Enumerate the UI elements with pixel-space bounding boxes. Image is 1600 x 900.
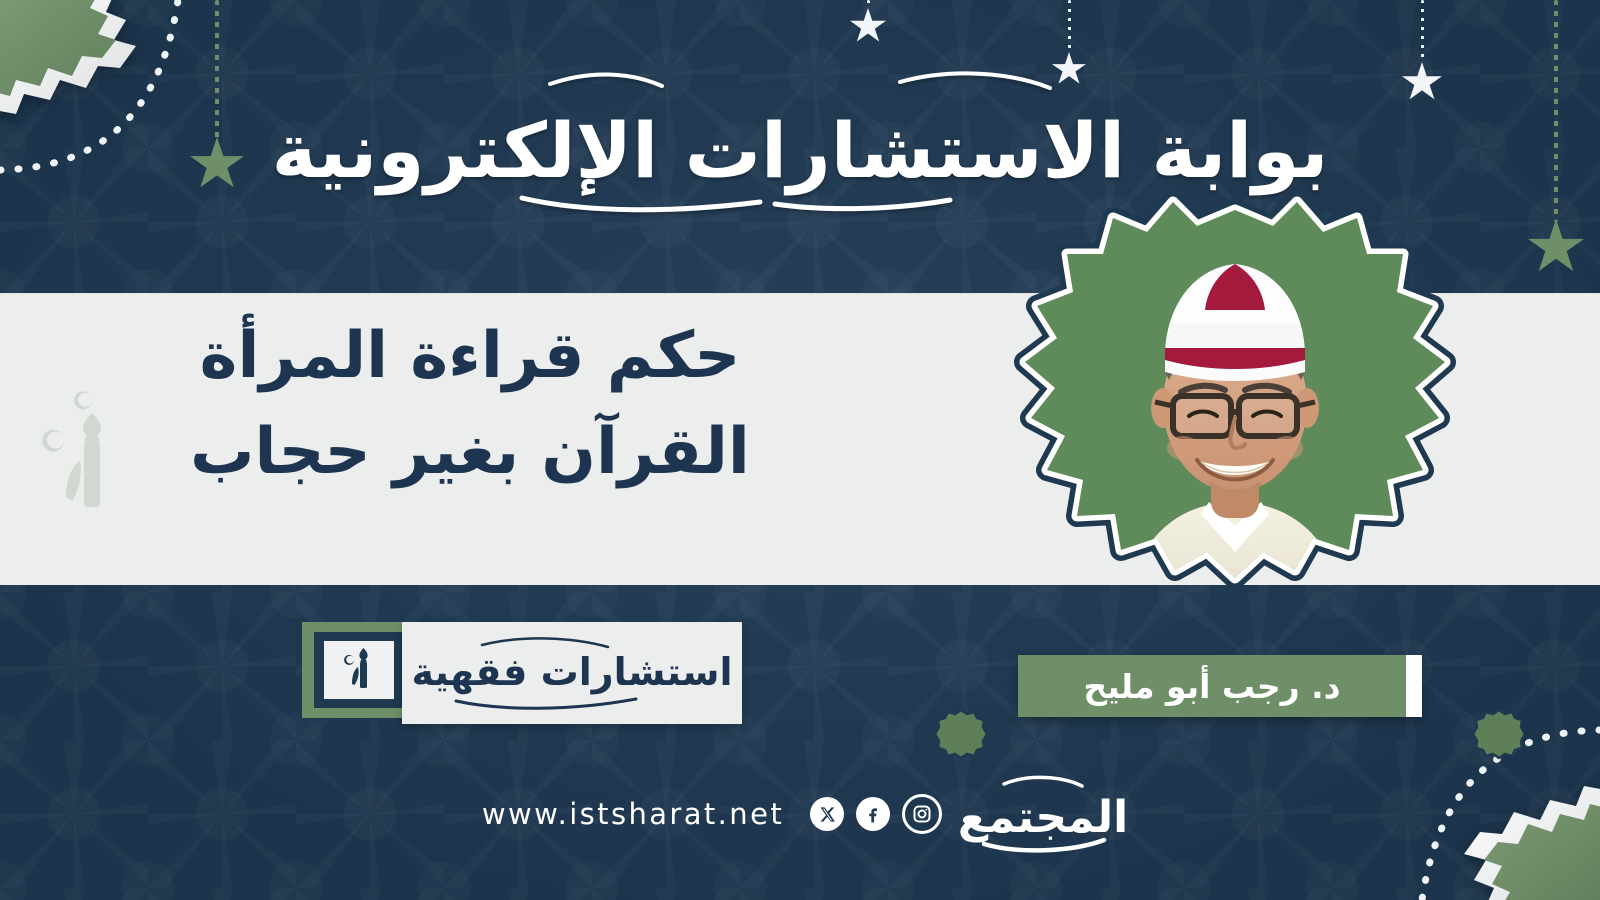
instagram-icon[interactable] bbox=[902, 794, 942, 834]
hanging-star-white-1 bbox=[850, 0, 886, 44]
brand-calligraphy-text: بوابة الاستشارات الإلكترونية bbox=[272, 106, 1329, 196]
star-icon bbox=[850, 8, 886, 44]
rosette-dot-left bbox=[935, 708, 987, 760]
category-badge[interactable]: استشارات فقهية bbox=[302, 622, 742, 730]
footer: المجتمع bbox=[0, 766, 1600, 862]
promo-card: بوابة الاستشارات الإلكترونية bbox=[0, 0, 1600, 900]
social-links bbox=[810, 794, 942, 834]
website-url[interactable]: www.istsharat.net bbox=[482, 797, 784, 831]
footer-logo: المجتمع bbox=[968, 766, 1118, 862]
category-icon-frame bbox=[314, 632, 404, 708]
page-title: حكم قراءة المرأة القرآن بغير حجاب bbox=[40, 317, 900, 491]
nameplate-accent-tab bbox=[1406, 655, 1422, 717]
rosette-dot-right bbox=[1473, 708, 1525, 760]
title-line-1: حكم قراءة المرأة bbox=[40, 317, 900, 395]
speaker-name: د. رجب أبو مليح bbox=[1018, 655, 1406, 717]
avatar bbox=[1005, 196, 1465, 616]
category-label-plate: استشارات فقهية bbox=[402, 622, 742, 724]
title-line-2: القرآن بغير حجاب bbox=[40, 413, 900, 491]
x-twitter-icon[interactable] bbox=[810, 797, 844, 831]
category-icon-inner bbox=[324, 641, 394, 699]
portrait-of-sheikh bbox=[1005, 196, 1465, 616]
category-label: استشارات فقهية bbox=[411, 650, 732, 694]
footer-logo-text: المجتمع bbox=[958, 792, 1128, 843]
facebook-icon[interactable] bbox=[856, 797, 890, 831]
mosque-crescent-icon bbox=[338, 646, 380, 694]
speaker-nameplate: د. رجب أبو مليح bbox=[1018, 655, 1422, 717]
